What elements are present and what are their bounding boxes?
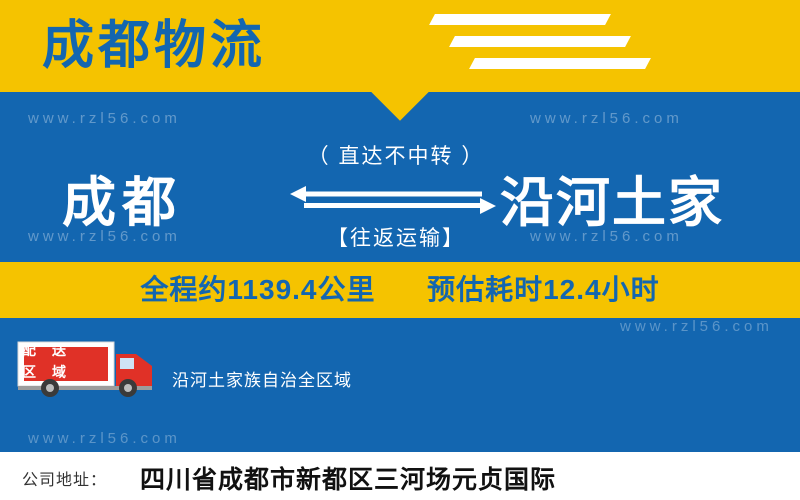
distance-summary: 全程约1139.4公里 预估耗时12.4小时	[0, 262, 800, 318]
route-note-bottom: 【往返运输】	[296, 222, 496, 252]
coverage-area: 沿河土家族自治全区域	[172, 366, 352, 391]
company-address-value: 四川省成都市新都区三河场元贞国际	[140, 460, 556, 496]
company-address-label: 公司地址：	[22, 466, 107, 490]
watermark: www.rzl56.com	[530, 110, 683, 127]
watermark: www.rzl56.com	[620, 318, 773, 335]
logistics-banner: 成都物流 www.rzl56.com www.rzl56.com www.rzl…	[0, 0, 800, 500]
total-distance: 全程约1139.4公里	[140, 274, 375, 305]
watermark: www.rzl56.com	[28, 110, 181, 127]
estimated-duration: 预估耗时12.4小时	[427, 274, 660, 305]
truck-label-line1: 配 送	[22, 340, 67, 360]
double-arrow-icon	[288, 182, 498, 218]
page-title: 成都物流	[42, 12, 266, 80]
header-stripe-3	[469, 58, 651, 69]
header-stripe-1	[429, 14, 611, 25]
destination-city: 沿河土家	[500, 172, 724, 234]
watermark: www.rzl56.com	[28, 430, 181, 447]
origin-city: 成都	[62, 172, 182, 234]
truck-label-line2: 区 域	[22, 362, 67, 382]
header-stripe-2	[449, 36, 631, 47]
header-wedge	[370, 92, 430, 122]
route-note-top: （ 直达不中转 ）	[296, 140, 496, 170]
